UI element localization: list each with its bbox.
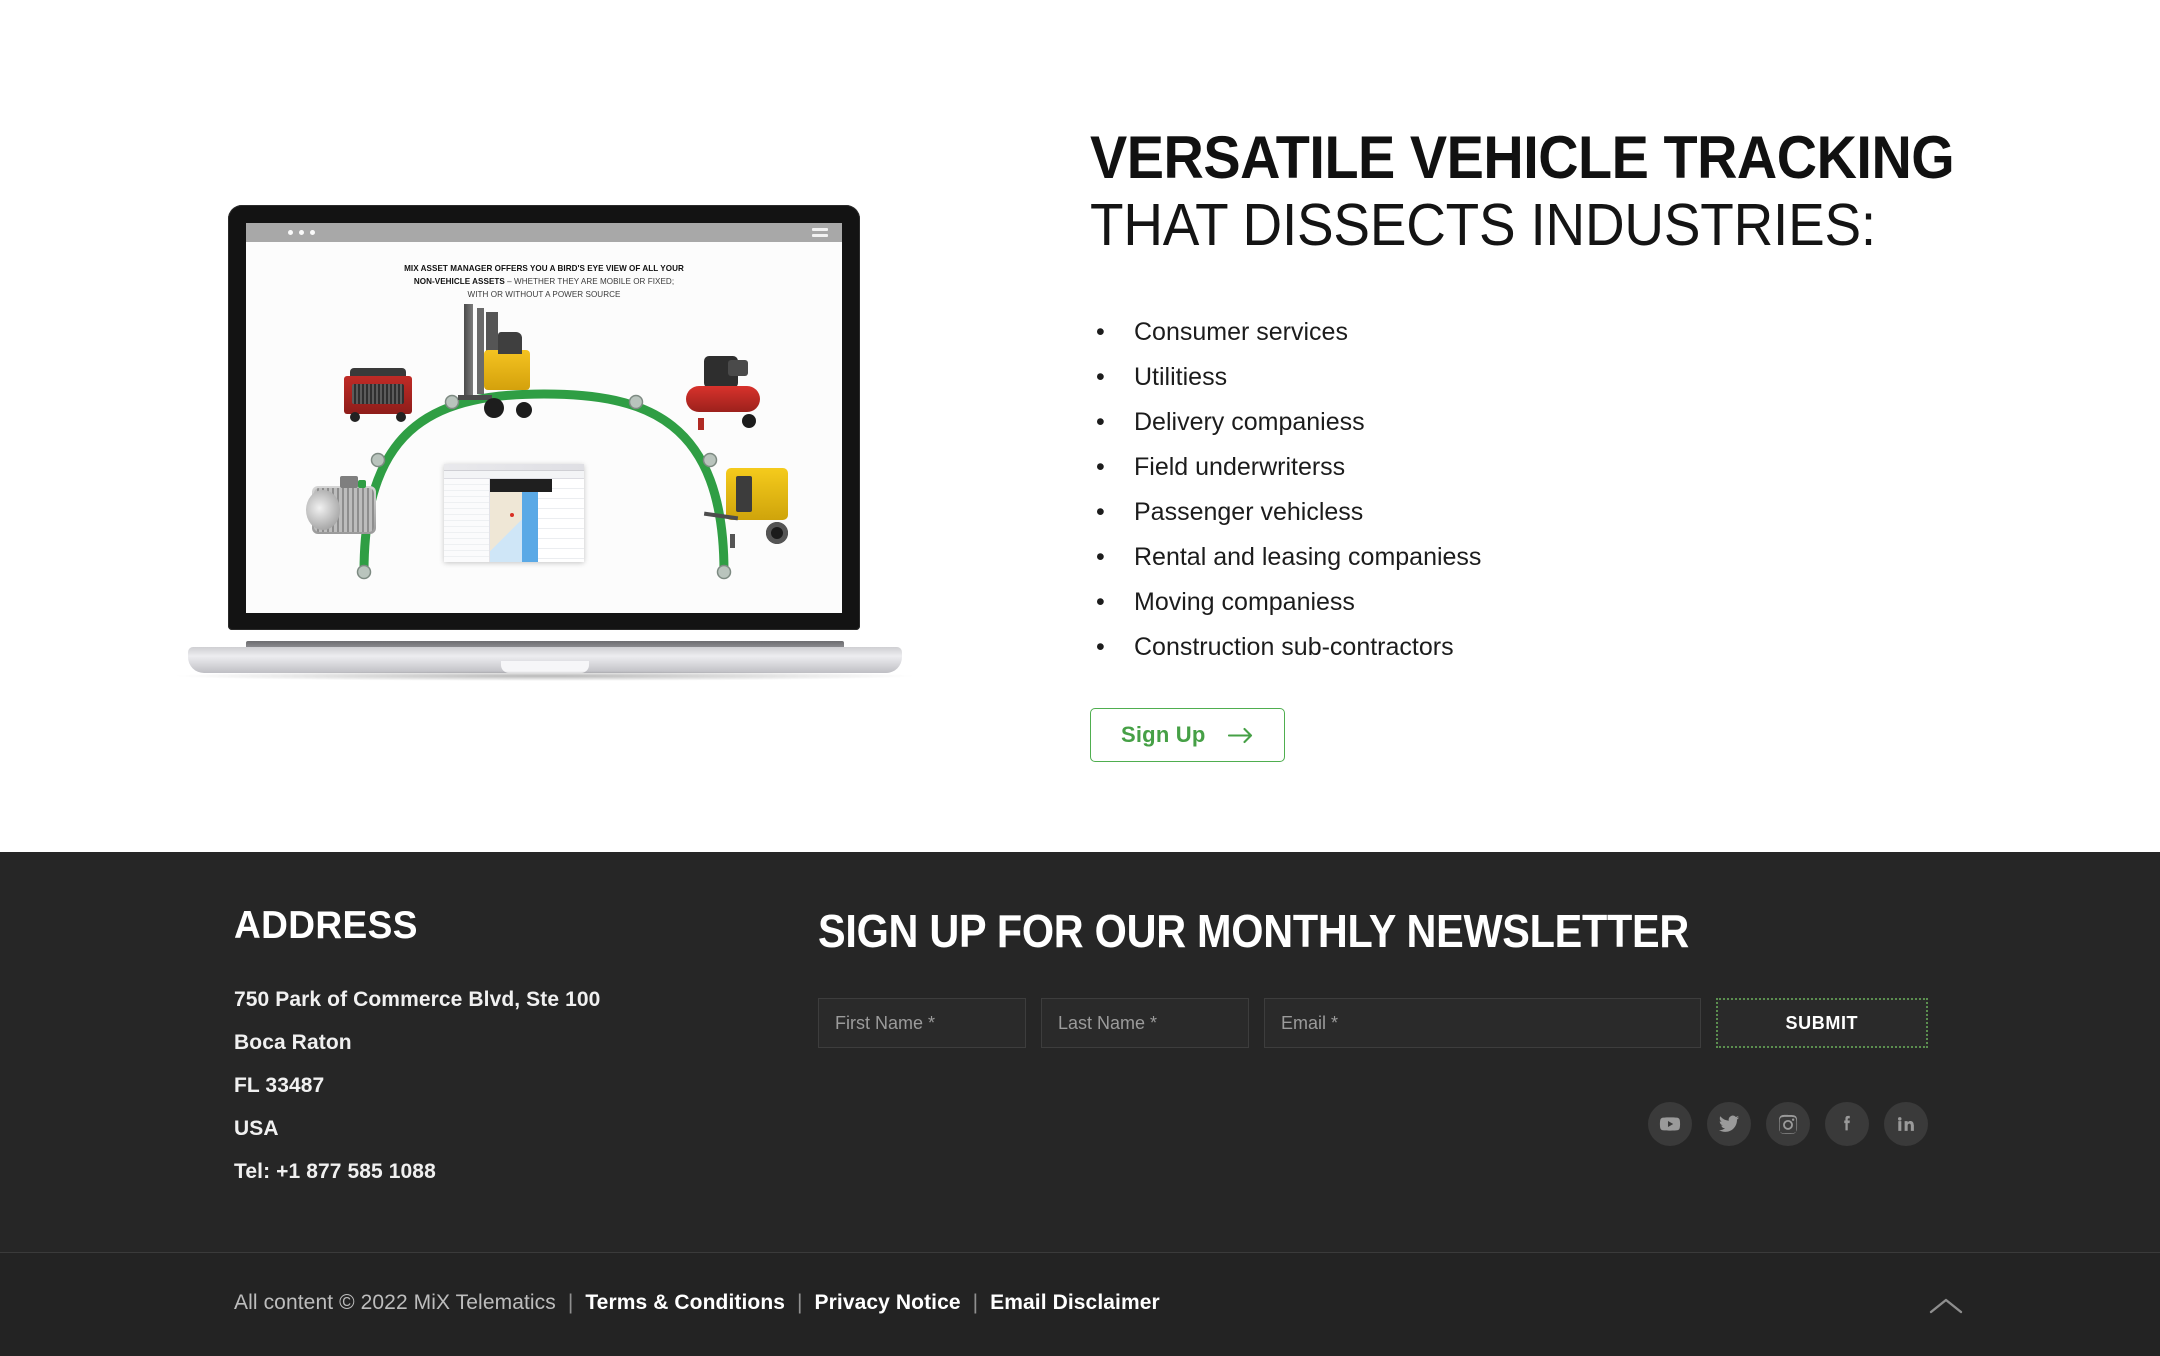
bullet-icon: • [1096,490,1105,535]
arrow-right-icon [1228,727,1254,744]
list-item-label: Passenger vehicless [1134,498,1363,526]
hamburger-menu-icon [812,228,828,237]
email-input[interactable] [1264,998,1701,1048]
site-footer: ADDRESS 750 Park of Commerce Blvd, Ste 1… [0,852,2160,1252]
list-item: • Consumer services [1090,310,2070,355]
hero-section: MIX ASSET MANAGER OFFERS YOU A BIRD'S EY… [0,0,2160,852]
air-compressor-image [684,350,764,432]
address-line: FL 33487 [234,1064,794,1107]
list-item: • Construction sub-contractors [1090,625,2070,670]
list-item-label: Field underwriterss [1134,453,1345,481]
browser-chrome-bar [246,223,842,242]
separator: | [797,1291,803,1314]
scroll-to-top-button[interactable] [1924,1293,1968,1323]
address-phone: Tel: +1 877 585 1088 [234,1150,794,1193]
instagram-icon[interactable] [1766,1102,1810,1146]
list-item: • Moving companiess [1090,580,2070,625]
sign-up-button[interactable]: Sign Up [1090,708,1285,762]
address-column: ADDRESS 750 Park of Commerce Blvd, Ste 1… [234,904,794,1193]
bullet-icon: • [1096,625,1105,670]
copyright-bar: All content © 2022 MiX Telematics | Term… [234,1291,1160,1315]
electric-motor-image [304,474,384,548]
list-item: • Passenger vehicless [1090,490,2070,535]
bottom-bar: All content © 2022 MiX Telematics | Term… [0,1253,2160,1356]
privacy-link[interactable]: Privacy Notice [815,1291,961,1314]
last-name-input[interactable] [1041,998,1249,1048]
social-links [1648,1102,1928,1146]
submit-button[interactable]: SUBMIT [1716,998,1928,1048]
newsletter-form: SUBMIT [818,998,1928,1048]
address-heading: ADDRESS [234,904,766,948]
laptop-screen-content: MIX ASSET MANAGER OFFERS YOU A BIRD'S EY… [246,242,842,613]
page-title-line2: THAT DISSECTS INDUSTRIES: [1090,192,2001,258]
list-item-label: Construction sub-contractors [1134,633,1454,661]
list-item-label: Rental and leasing companiess [1134,543,1481,571]
separator: | [973,1291,979,1314]
list-item: • Delivery companiess [1090,400,2070,445]
newsletter-heading: SIGN UP FOR OUR MONTHLY NEWSLETTER [818,904,1817,958]
chevron-up-icon [1929,1296,1963,1321]
list-item-label: Consumer services [1134,318,1348,346]
list-item-label: Moving companiess [1134,588,1355,616]
laptop-lid: MIX ASSET MANAGER OFFERS YOU A BIRD'S EY… [228,205,860,630]
forklift-image [458,304,536,424]
facebook-icon[interactable] [1825,1102,1869,1146]
bullet-icon: • [1096,445,1105,490]
towable-generator-image [704,464,800,550]
list-item: • Rental and leasing companiess [1090,535,2070,580]
laptop-base [150,637,940,685]
twitter-icon[interactable] [1707,1102,1751,1146]
first-name-input[interactable] [818,998,1026,1048]
fleet-dashboard-screenshot [444,464,584,562]
terms-link[interactable]: Terms & Conditions [585,1291,785,1314]
list-item-label: Utilitiess [1134,363,1227,391]
bullet-icon: • [1096,400,1105,445]
bullet-icon: • [1096,355,1105,400]
bullet-icon: • [1096,535,1105,580]
address-line: 750 Park of Commerce Blvd, Ste 100 [234,978,794,1021]
portable-generator-image [342,360,414,424]
laptop-screen: MIX ASSET MANAGER OFFERS YOU A BIRD'S EY… [246,223,842,613]
newsletter-column: SIGN UP FOR OUR MONTHLY NEWSLETTER SUBMI… [818,904,1928,1048]
list-item-label: Delivery companiess [1134,408,1365,436]
bullet-icon: • [1096,310,1105,355]
industries-list: • Consumer services • Utilitiess • Deliv… [1090,310,2070,670]
email-disclaimer-link[interactable]: Email Disclaimer [990,1291,1160,1314]
laptop-mockup-image: MIX ASSET MANAGER OFFERS YOU A BIRD'S EY… [150,205,940,685]
bullet-icon: • [1096,580,1105,625]
list-item: • Utilitiess [1090,355,2070,400]
youtube-icon[interactable] [1648,1102,1692,1146]
linkedin-icon[interactable] [1884,1102,1928,1146]
list-item: • Field underwriterss [1090,445,2070,490]
separator: | [568,1291,574,1314]
page-title-line1: VERSATILE VEHICLE TRACKING [1090,128,2001,188]
hero-content-column: VERSATILE VEHICLE TRACKING THAT DISSECTS… [1090,128,2070,762]
address-lines: 750 Park of Commerce Blvd, Ste 100 Boca … [234,978,794,1193]
address-line: USA [234,1107,794,1150]
copyright-text: All content © 2022 MiX Telematics [234,1291,556,1314]
window-controls-dots [288,230,315,235]
sign-up-button-label: Sign Up [1121,724,1206,746]
address-line: Boca Raton [234,1021,794,1064]
